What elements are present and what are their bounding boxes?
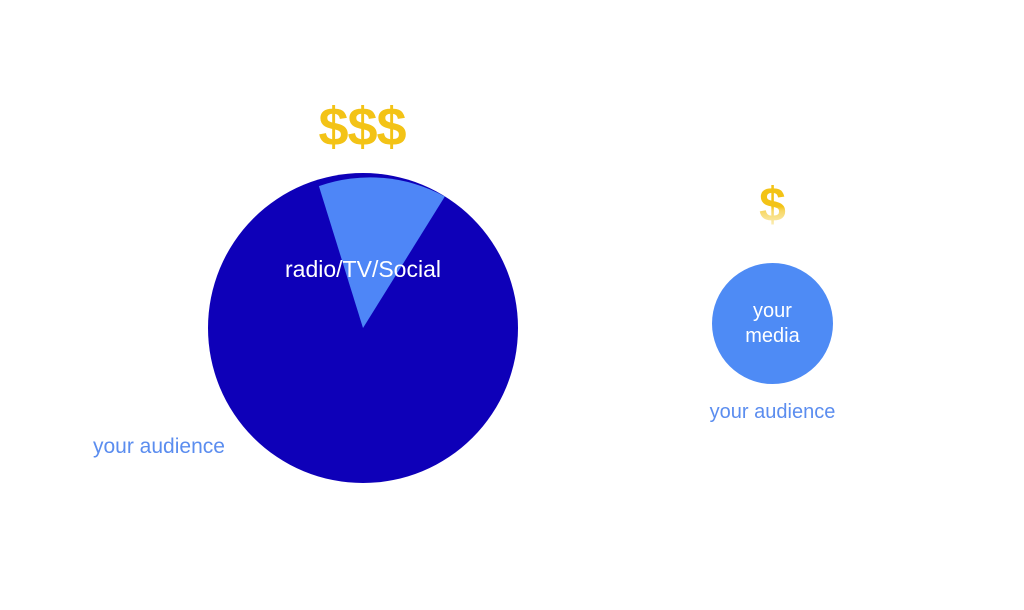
diagram-canvas: $$$ radio/TV/Social your audience $ your… <box>0 0 1024 610</box>
dollar-glyph: $ <box>759 179 786 232</box>
your-media-label-line2: media <box>745 325 799 347</box>
pie-svg <box>208 173 518 483</box>
pie-center-label: radio/TV/Social <box>208 257 518 282</box>
your-media-circle: your media <box>712 263 833 384</box>
audience-label-left: your audience <box>93 435 225 459</box>
dollar-sign-triple-icon: $$$ <box>0 100 724 154</box>
dollar-sign-single-icon: $ <box>700 182 845 230</box>
your-media-label-line1: your <box>753 300 792 322</box>
your-media-label: your media <box>745 299 799 348</box>
audience-label-right: your audience <box>699 401 846 424</box>
radio-tv-social-pie-chart: radio/TV/Social <box>208 173 518 483</box>
